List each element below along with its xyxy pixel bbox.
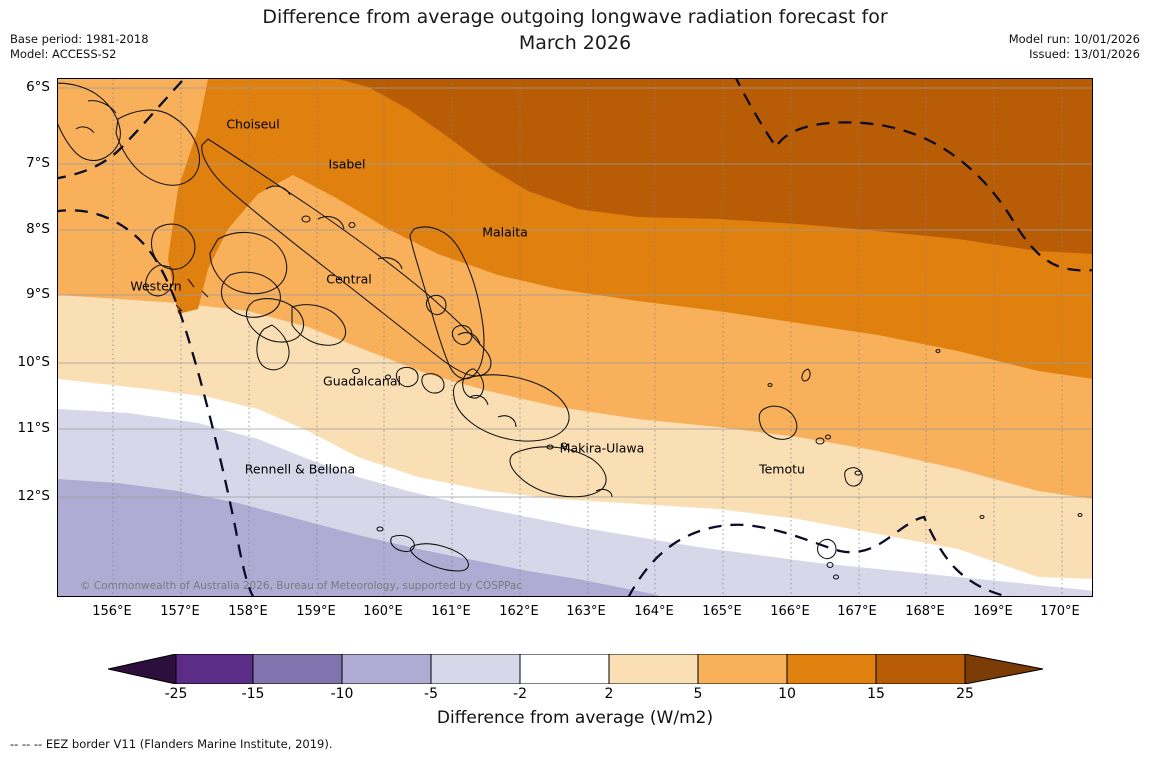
colorbar-swatch-10-15 <box>787 654 876 684</box>
colorbar <box>108 654 1043 684</box>
x-tick-158E: 158°E <box>228 604 268 619</box>
title-line-1: Difference from average outgoing longwav… <box>0 4 1150 30</box>
page-title: Difference from average outgoing longwav… <box>0 4 1150 56</box>
y-tick-8S: 8°S <box>0 221 50 237</box>
y-tick-10S: 10°S <box>0 354 50 370</box>
x-tick-162E: 162°E <box>499 604 539 619</box>
x-tick-167E: 167°E <box>837 604 877 619</box>
x-tick-170E: 170°E <box>1040 604 1080 619</box>
x-tick-157E: 157°E <box>160 604 200 619</box>
x-tick-166E: 166°E <box>770 604 810 619</box>
colorbar-swatch-15-25 <box>876 654 965 684</box>
eez-legend-note: -- -- -- EEZ border V11 (Flanders Marine… <box>10 737 332 751</box>
cb-tick--2: -2 <box>513 686 527 702</box>
metadata-left: Base period: 1981-2018 Model: ACCESS-S2 <box>10 32 149 62</box>
x-tick-165E: 165°E <box>702 604 742 619</box>
metadata-right: Model run: 10/01/2026 Issued: 13/01/2026 <box>1009 32 1140 62</box>
cb-tick-15: 15 <box>867 686 885 702</box>
x-tick-168E: 168°E <box>905 604 945 619</box>
cb-tick--25: -25 <box>165 686 188 702</box>
colorbar-axis-label: Difference from average (W/m2) <box>0 708 1150 728</box>
cb-tick-5: 5 <box>694 686 703 702</box>
y-tick-6S: 6°S <box>0 79 50 95</box>
colorbar-swatch--5--2 <box>431 654 520 684</box>
colorbar-over-arrow <box>965 654 1043 684</box>
cb-tick--10: -10 <box>331 686 354 702</box>
map-plot-area: Choiseul Isabel Malaita Western Central … <box>57 78 1093 597</box>
model-text: Model: ACCESS-S2 <box>10 47 149 62</box>
colorbar-tick-labels: -25 -15 -10 -5 -2 2 5 10 15 25 <box>0 686 1150 706</box>
colorbar-swatch-5-10 <box>698 654 787 684</box>
colorbar-swatch--15--10 <box>253 654 342 684</box>
cb-tick-25: 25 <box>956 686 974 702</box>
issued-text: Issued: 13/01/2026 <box>1009 47 1140 62</box>
y-tick-11S: 11°S <box>0 420 50 436</box>
y-tick-7S: 7°S <box>0 155 50 171</box>
base-period-text: Base period: 1981-2018 <box>10 32 149 47</box>
x-tick-160E: 160°E <box>363 604 403 619</box>
x-tick-169E: 169°E <box>973 604 1013 619</box>
model-run-text: Model run: 10/01/2026 <box>1009 32 1140 47</box>
y-tick-12S: 12°S <box>0 488 50 504</box>
cb-tick-10: 10 <box>778 686 796 702</box>
x-tick-159E: 159°E <box>296 604 336 619</box>
colorbar-swatch--2-2 <box>520 654 609 684</box>
map-svg <box>58 79 1093 597</box>
colorbar-swatch--25--15 <box>176 654 253 684</box>
title-line-2: March 2026 <box>0 30 1150 56</box>
y-tick-9S: 9°S <box>0 286 50 302</box>
x-tick-156E: 156°E <box>92 604 132 619</box>
colorbar-svg <box>108 654 1043 684</box>
x-tick-164E: 164°E <box>634 604 674 619</box>
cb-tick--15: -15 <box>242 686 265 702</box>
colorbar-swatch-2-5 <box>609 654 698 684</box>
colorbar-under-arrow <box>108 654 176 684</box>
colorbar-swatch--10--5 <box>342 654 431 684</box>
cb-tick--5: -5 <box>424 686 438 702</box>
copyright-credit: © Commonwealth of Australia 2026, Bureau… <box>80 580 522 592</box>
cb-tick-2: 2 <box>605 686 614 702</box>
x-tick-161E: 161°E <box>431 604 471 619</box>
x-tick-163E: 163°E <box>566 604 606 619</box>
